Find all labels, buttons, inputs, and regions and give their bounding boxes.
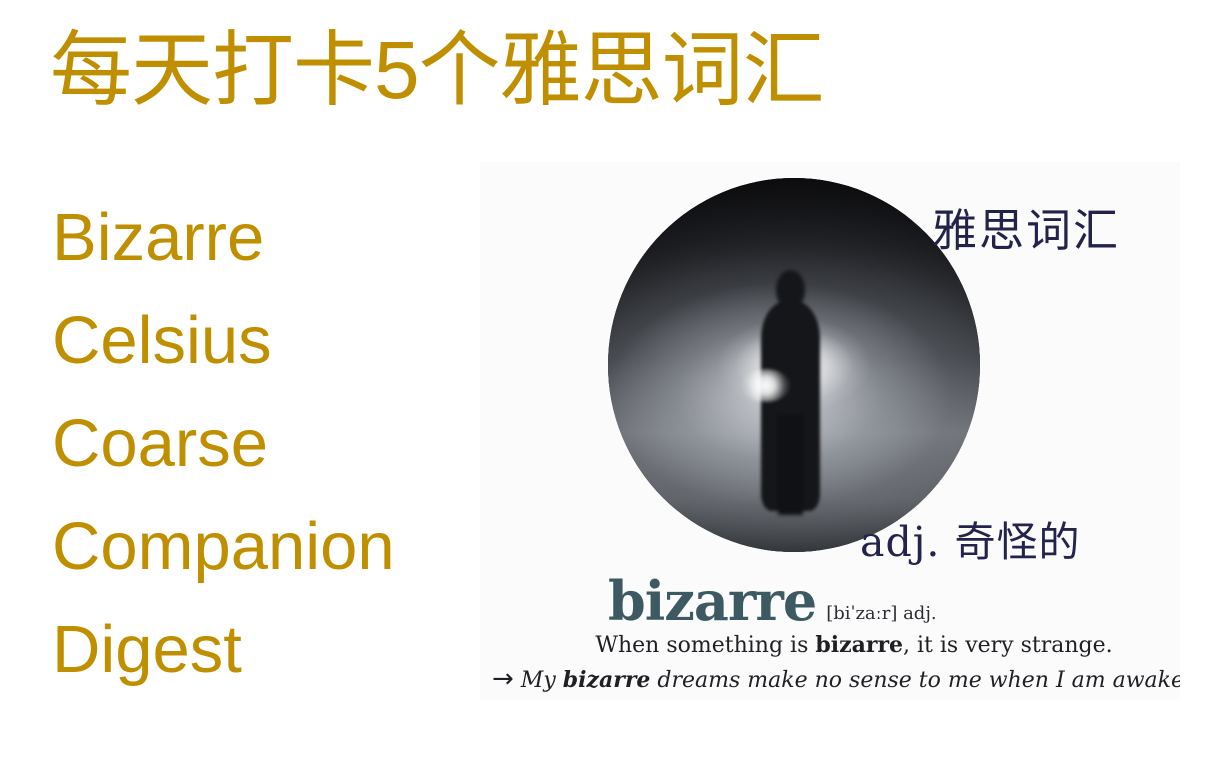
- example-keyword: bizarre: [563, 667, 651, 693]
- photo-main-silhouette: [761, 301, 821, 510]
- illustration-panel: 雅思词汇 adj. 奇怪的 bizarre [biˈzaːr] adj. Whe…: [480, 162, 1180, 700]
- chinese-part-of-speech-label: adj. 奇怪的: [860, 522, 1080, 563]
- vocabulary-word-list: Bizarre Celsius Coarse Companion Digest: [52, 186, 472, 701]
- dictionary-phonetic: [biˈzaːr] adj.: [826, 605, 936, 628]
- dictionary-definition: When something is bizarre, it is very st…: [544, 632, 1164, 659]
- list-item: Coarse: [52, 392, 472, 495]
- slide-canvas: 每天打卡5个雅思词汇 Bizarre Celsius Coarse Compan…: [0, 0, 1222, 763]
- list-item: Celsius: [52, 289, 472, 392]
- page-title: 每天打卡5个雅思词汇: [50, 30, 824, 112]
- list-item: Companion: [52, 495, 472, 598]
- dictionary-example: My bizarre dreams make no sense to me wh…: [521, 667, 1180, 694]
- dictionary-headword: bizarre: [608, 574, 816, 628]
- list-item: Bizarre: [52, 186, 472, 289]
- silhouette-walking-in-fog-photo: [608, 178, 980, 552]
- definition-text-suffix: , it is very strange.: [903, 633, 1113, 658]
- definition-keyword: bizarre: [815, 632, 903, 658]
- chinese-vocabulary-label: 雅思词汇: [932, 208, 1120, 253]
- example-text-suffix: dreams make no sense to me when I am awa…: [650, 668, 1180, 693]
- dictionary-example-row: → My bizarre dreams make no sense to me …: [492, 666, 1180, 694]
- example-text-prefix: My: [521, 668, 563, 693]
- list-item: Digest: [52, 598, 472, 701]
- definition-text-prefix: When something is: [595, 633, 815, 658]
- dictionary-headword-row: bizarre [biˈzaːr] adj.: [608, 574, 937, 628]
- right-arrow-icon: →: [492, 666, 514, 692]
